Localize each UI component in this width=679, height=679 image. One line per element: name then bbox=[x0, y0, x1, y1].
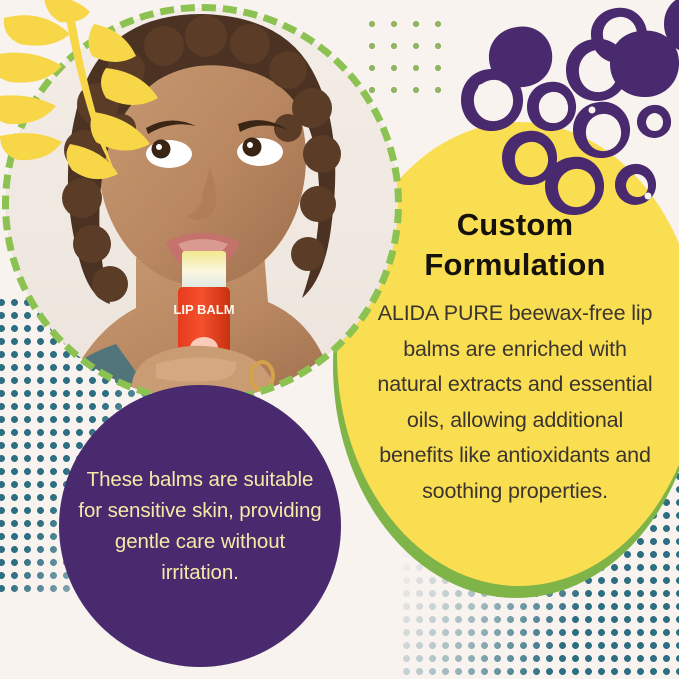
purple-ring-icon bbox=[566, 39, 628, 101]
purple-circle-panel: These balms are suitable for sensitive s… bbox=[59, 385, 341, 667]
page-title: Custom Formulation bbox=[390, 205, 640, 285]
green-dot-grid bbox=[369, 21, 449, 101]
yellow-panel-body: ALIDA PURE beewax-free lip balms are enr… bbox=[368, 296, 662, 509]
monstera-leaf-icon bbox=[0, 0, 186, 184]
purple-blob-icon bbox=[489, 27, 552, 88]
purple-blob-highlight bbox=[589, 107, 596, 114]
purple-ring-icon bbox=[591, 8, 647, 63]
purple-ring-icon bbox=[637, 105, 671, 138]
purple-blob-icon bbox=[664, 0, 679, 54]
infographic-canvas: LIP BALM These balms are bbox=[0, 0, 679, 679]
yellow-panel-content: Custom Formulation ALIDA PURE beewax-fre… bbox=[360, 205, 670, 509]
purple-panel-text: These balms are suitable for sensitive s… bbox=[77, 464, 323, 588]
purple-blob-highlight bbox=[478, 84, 486, 92]
purple-blob-icon bbox=[610, 31, 679, 97]
